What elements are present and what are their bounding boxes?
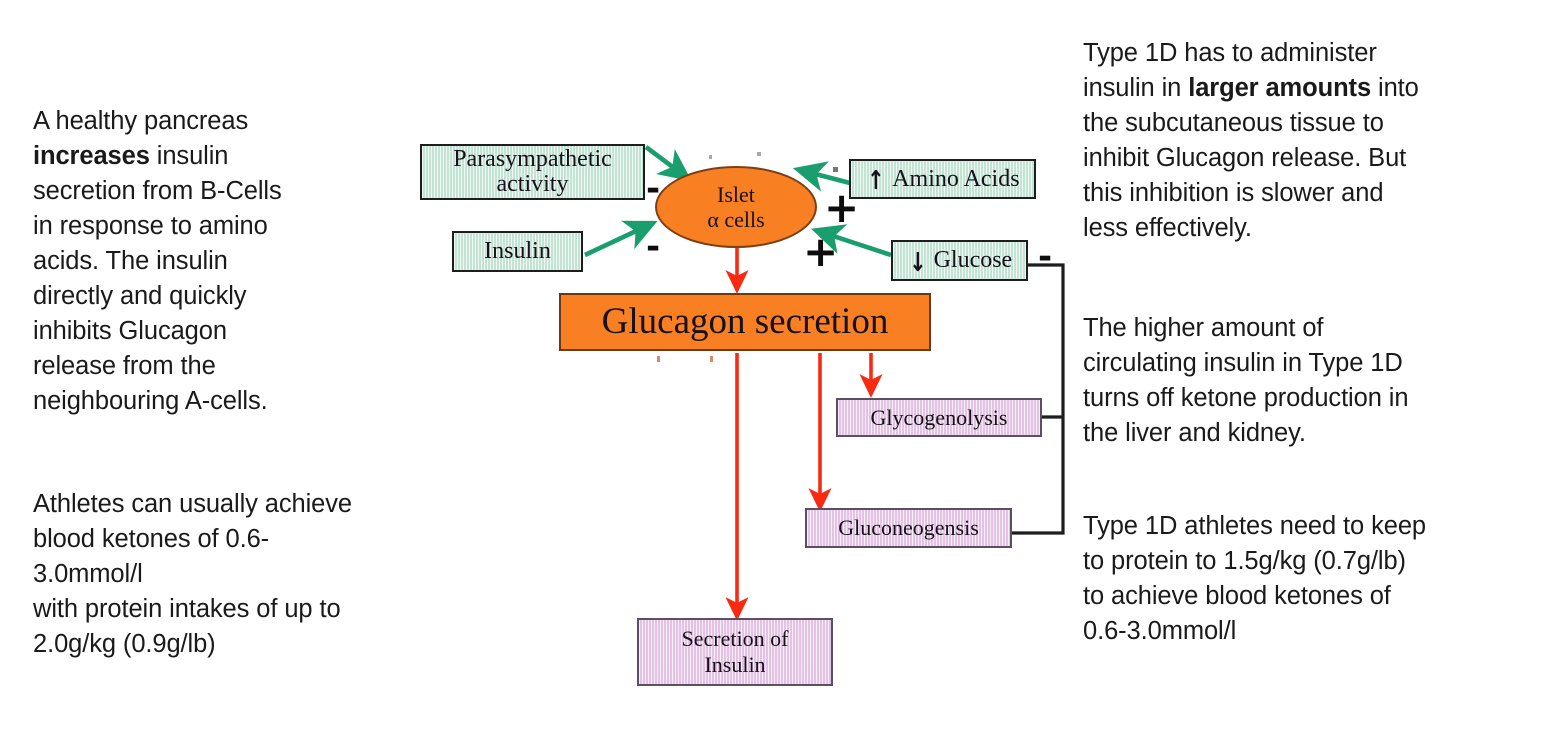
- sign-plus-amino-acids: +: [824, 187, 859, 229]
- node-amino-acids-label: Amino Acids: [892, 167, 1019, 192]
- slide-canvas: Parasympathetic activity Insulin ↑ Amino…: [0, 0, 1562, 744]
- sign-minus-parasympathetic: -: [646, 172, 660, 206]
- athlete-ketones-note: Athletes can usually achieve blood keton…: [33, 487, 473, 662]
- node-islet-line1: Islet: [717, 182, 755, 207]
- node-secretion-of-insulin[interactable]: Secretion of Insulin: [637, 618, 833, 686]
- down-arrow-icon: ↓: [909, 250, 926, 276]
- sign-plus-glucose: +: [803, 231, 838, 273]
- node-glucagon-secretion-label: Glucagon secretion: [602, 302, 889, 342]
- node-secretion-of-insulin-line2: Insulin: [704, 652, 765, 678]
- artifact-speck: [833, 167, 838, 172]
- node-glycogenolysis[interactable]: Glycogenolysis: [836, 398, 1042, 437]
- node-insulin[interactable]: Insulin: [452, 231, 583, 272]
- artifact-speck: [710, 356, 713, 362]
- green-arrow-amino-acids: [800, 170, 850, 183]
- sign-minus-glucose-feedback: -: [1038, 240, 1052, 274]
- node-secretion-of-insulin-line1: Secretion of: [682, 626, 789, 652]
- node-glucose[interactable]: ↓ Glucose: [891, 240, 1028, 281]
- node-parasympathetic-activity[interactable]: Parasympathetic activity: [420, 144, 645, 200]
- node-glycogenolysis-label: Glycogenolysis: [871, 405, 1008, 431]
- node-gluconeogensis-label: Gluconeogensis: [838, 515, 979, 541]
- type1d-insulin-admin-note: Type 1D has to administer insulin in lar…: [1083, 36, 1553, 246]
- green-arrow-insulin: [585, 224, 651, 255]
- node-islet-line2: α cells: [707, 207, 764, 232]
- node-amino-acids[interactable]: ↑ Amino Acids: [849, 159, 1036, 199]
- healthy-pancreas-note: A healthy pancreas increases insulin sec…: [33, 104, 433, 419]
- circulating-insulin-ketone-note: The higher amount of circulating insulin…: [1083, 311, 1553, 451]
- type1d-protein-target-note: Type 1D athletes need to keep to protein…: [1083, 509, 1553, 649]
- node-gluconeogensis[interactable]: Gluconeogensis: [805, 508, 1012, 548]
- node-insulin-label: Insulin: [484, 239, 551, 264]
- artifact-speck: [657, 356, 660, 362]
- artifact-speck: [757, 152, 761, 156]
- artifact-speck: [709, 155, 712, 159]
- node-parasympathetic-line1: Parasympathetic: [453, 147, 612, 172]
- up-arrow-icon: ↑: [868, 168, 885, 194]
- node-glucagon-secretion[interactable]: Glucagon secretion: [559, 293, 931, 351]
- node-parasympathetic-line2: activity: [497, 172, 569, 197]
- node-islet-alpha-cells[interactable]: Islet α cells: [655, 166, 817, 248]
- node-glucose-label: Glucose: [934, 248, 1013, 273]
- sign-minus-insulin: -: [646, 230, 660, 264]
